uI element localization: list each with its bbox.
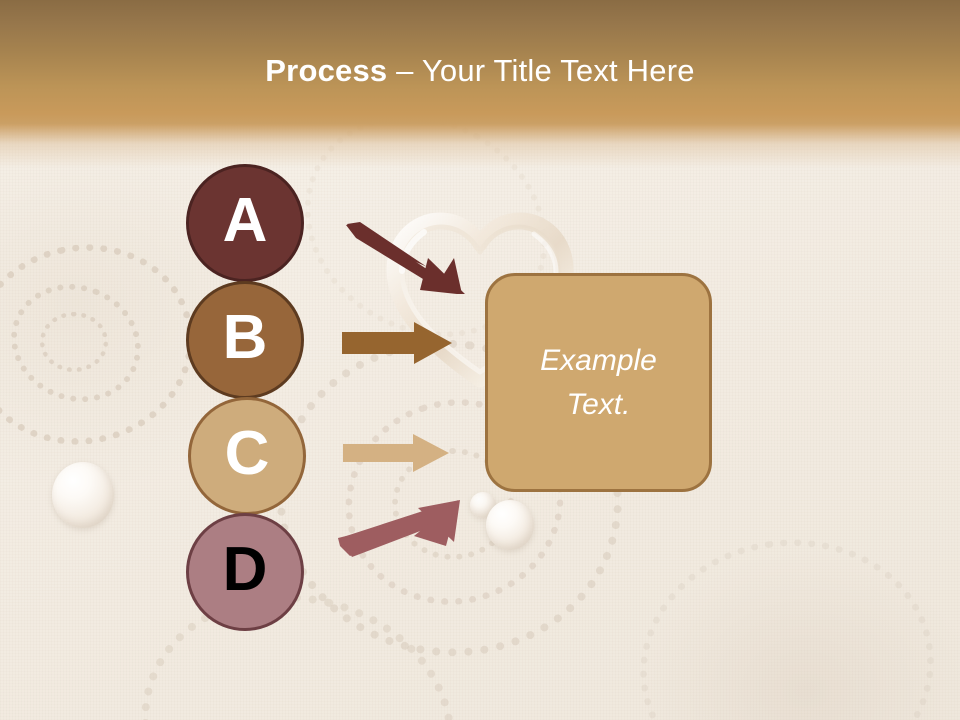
page-title-rest: Your Title Text Here [422, 53, 695, 88]
arrow-from-d [336, 498, 462, 560]
step-circle-c-label: C [225, 423, 270, 485]
step-circle-d-label: D [223, 539, 268, 601]
step-circle-b-label: B [223, 307, 268, 369]
step-circle-b[interactable]: B [186, 281, 304, 399]
beaded-swirl-decoration [40, 312, 108, 372]
step-circle-a-label: A [223, 190, 268, 252]
title-bar-fade [0, 124, 960, 168]
arrow-from-c [343, 434, 449, 472]
slide-canvas: Process – Your Title Text Here Example T… [0, 0, 960, 720]
arrow-from-b [342, 322, 452, 364]
page-title-bold: Process [265, 53, 387, 88]
page-title-separator: – [387, 53, 422, 88]
pearl-decoration [486, 500, 534, 550]
step-circle-c[interactable]: C [188, 397, 306, 515]
example-text-callout: Example Text. [485, 273, 712, 492]
page-title: Process – Your Title Text Here [0, 52, 960, 90]
arrow-from-a [342, 222, 472, 294]
pearl-decoration [52, 462, 114, 528]
step-circle-a[interactable]: A [186, 164, 304, 282]
example-text-line-2: Text. [540, 383, 657, 427]
step-circle-d[interactable]: D [186, 513, 304, 631]
example-text-line-1: Example [540, 339, 657, 383]
example-text-lines: Example Text. [540, 339, 657, 426]
